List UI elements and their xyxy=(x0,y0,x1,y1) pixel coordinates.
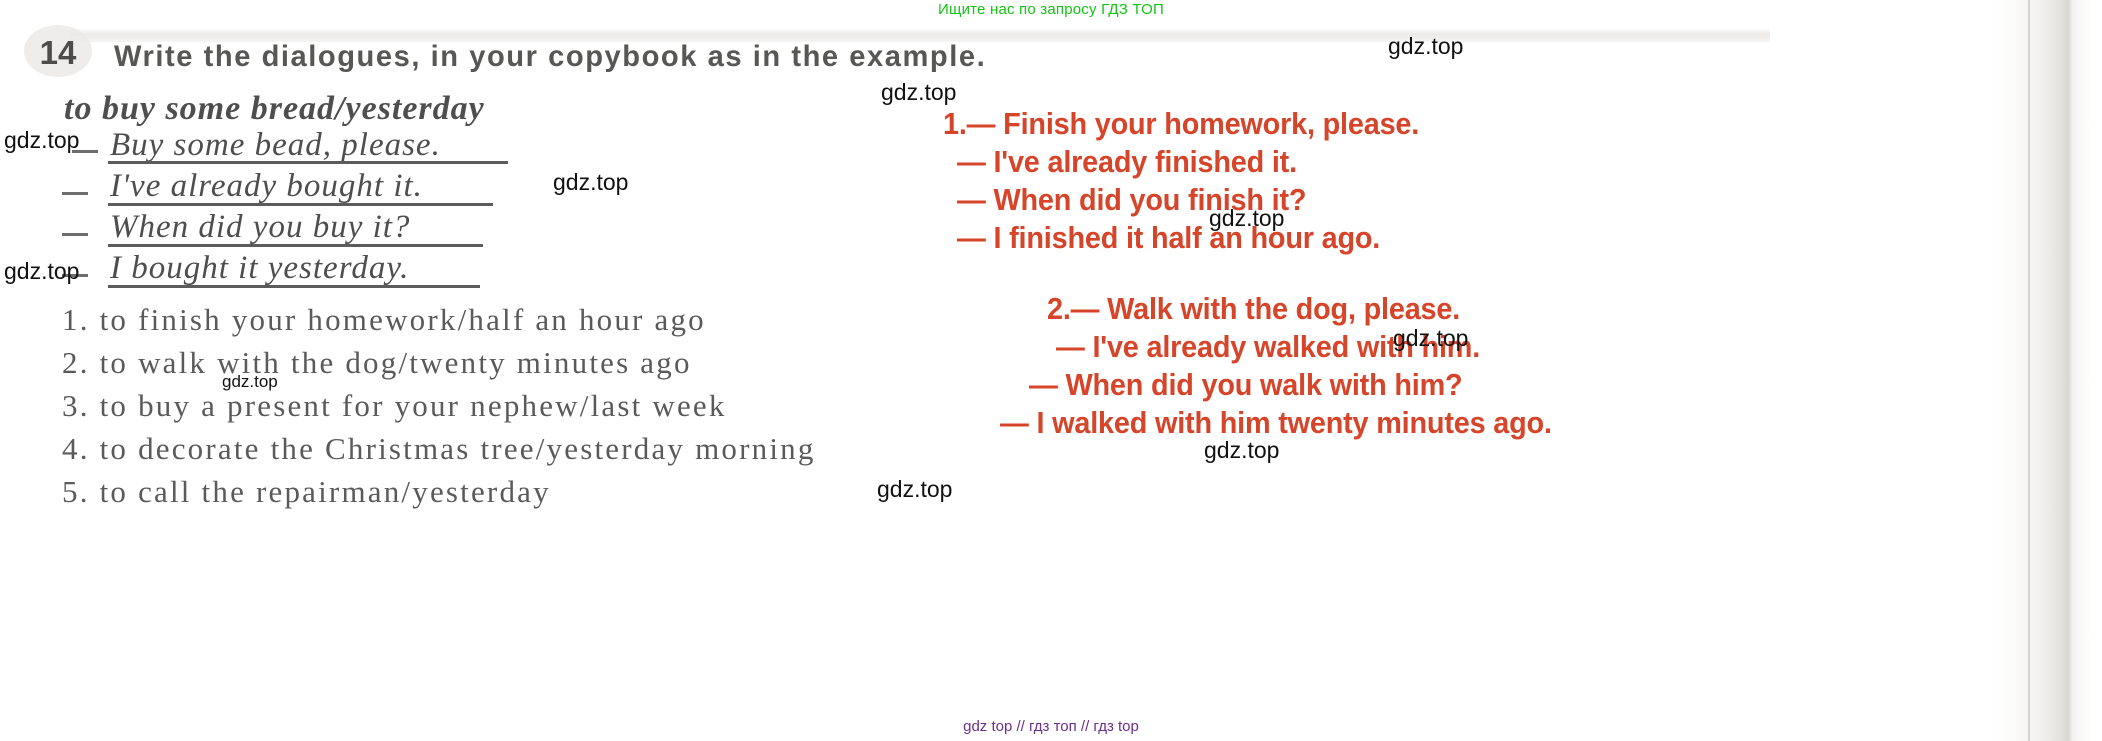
answer-2-line-3: — When did you walk with him? xyxy=(1029,367,1462,403)
task-list-item: 4. to decorate the Christmas tree/yester… xyxy=(62,431,816,467)
watermark-gdz-top: gdz.top xyxy=(1393,325,1468,352)
watermark-gdz-top: gdz.top xyxy=(4,127,79,154)
example-dash-2 xyxy=(62,192,88,195)
example-line-4: I bought it yesterday. xyxy=(110,250,409,287)
exercise-title: Write the dialogues, in your copybook as… xyxy=(114,40,986,74)
example-prompt: to buy some bread/yesterday xyxy=(64,90,485,128)
watermark-gdz-top: gdz.top xyxy=(1388,33,1463,60)
watermark-gdz-top: gdz.top xyxy=(222,372,278,392)
answer-1-line-2: — I've already finished it. xyxy=(957,144,1297,180)
example-rule-3 xyxy=(108,244,483,247)
answer-1-line-4: — I finished it half an hour ago. xyxy=(957,220,1380,256)
example-rule-4 xyxy=(108,285,480,288)
example-line-3: When did you buy it? xyxy=(110,209,410,246)
task-list-item: 1. to finish your homework/half an hour … xyxy=(62,302,706,338)
task-list-item: 3. to buy a present for your nephew/last… xyxy=(62,388,727,424)
page-edge-line xyxy=(2028,0,2030,741)
watermark-gdz-top: gdz.top xyxy=(553,169,628,196)
watermark-gdz-top: gdz.top xyxy=(1209,205,1284,232)
watermark-gdz-top: gdz.top xyxy=(4,258,79,285)
example-line-1: Buy some bead, please. xyxy=(110,127,441,164)
example-rule-1 xyxy=(108,161,508,164)
example-rule-2 xyxy=(108,203,493,206)
promo-banner-text: Ищите нас по запросу ГДЗ ТОП xyxy=(0,1,2102,18)
example-line-2: I've already bought it. xyxy=(110,168,423,205)
task-list-item: 2. to walk with the dog/twenty minutes a… xyxy=(62,345,692,381)
watermark-gdz-top: gdz.top xyxy=(1204,437,1279,464)
textbook-page: Ищите нас по запросу ГДЗ ТОП 14 Write th… xyxy=(0,0,2102,741)
task-list-item: 5. to call the repairman/yesterday xyxy=(62,474,551,510)
answer-2-line-1: 2.— Walk with the dog, please. xyxy=(1047,291,1460,327)
answer-1-line-1: 1.— Finish your homework, please. xyxy=(943,106,1419,142)
example-dash-3 xyxy=(62,233,88,236)
page-edge-gradient xyxy=(1990,0,2102,741)
footer-watermark: gdz top // гдз топ // гдз top xyxy=(0,718,2102,735)
watermark-gdz-top: gdz.top xyxy=(881,79,956,106)
answer-2-line-4: — I walked with him twenty minutes ago. xyxy=(1000,405,1552,441)
exercise-number-label: 14 xyxy=(24,28,92,80)
watermark-gdz-top: gdz.top xyxy=(877,476,952,503)
